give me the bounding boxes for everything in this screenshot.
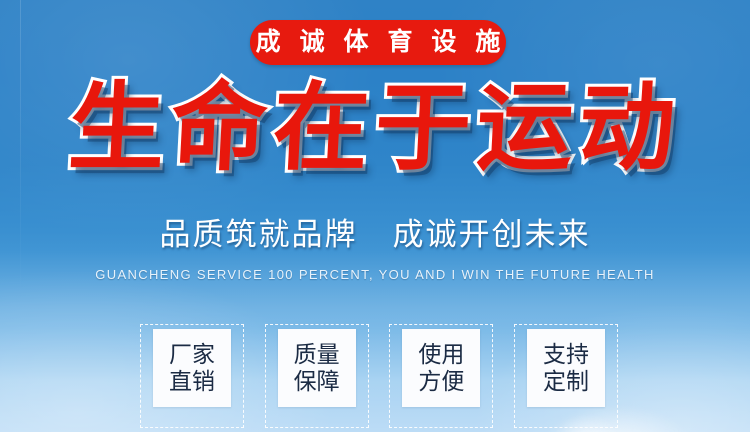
feature-card-1-line-2: 直销 bbox=[169, 368, 215, 395]
feature-card-4-line-1: 支持 bbox=[543, 341, 589, 368]
feature-list: 厂家 直销 质量 保障 使用 方便 支持 定制 bbox=[140, 324, 618, 428]
feature-card-3: 使用 方便 bbox=[402, 329, 480, 407]
promo-banner: 成 诚 体 育 设 施 生命在于运动 品质筑就品牌 成诚开创未来 GUANCHE… bbox=[0, 0, 750, 432]
feature-item-2: 质量 保障 bbox=[265, 324, 369, 428]
feature-card-4-line-2: 定制 bbox=[543, 368, 589, 395]
subtitle-left-text: 品质筑就品牌 bbox=[160, 218, 358, 252]
feature-item-3: 使用 方便 bbox=[389, 324, 493, 428]
feature-item-4: 支持 定制 bbox=[514, 324, 618, 428]
subtitle-right-text: 成诚开创未来 bbox=[392, 218, 590, 252]
feature-card-4: 支持 定制 bbox=[527, 329, 605, 407]
headline: 生命在于运动 bbox=[0, 78, 750, 179]
feature-item-1: 厂家 直销 bbox=[140, 324, 244, 428]
feature-card-1: 厂家 直销 bbox=[153, 329, 231, 407]
english-tagline: GUANCHENG SERVICE 100 PERCENT, YOU AND I… bbox=[0, 266, 750, 284]
feature-card-2-line-2: 保障 bbox=[294, 368, 340, 395]
feature-card-2-line-1: 质量 bbox=[294, 341, 340, 368]
brand-badge-label: 成 诚 体 育 设 施 bbox=[250, 30, 507, 55]
feature-card-2: 质量 保障 bbox=[278, 329, 356, 407]
feature-card-3-line-2: 方便 bbox=[418, 368, 464, 395]
brand-badge: 成 诚 体 育 设 施 bbox=[250, 20, 506, 65]
english-tagline-text: GUANCHENG SERVICE 100 PERCENT, YOU AND I… bbox=[95, 267, 655, 283]
headline-text: 生命在于运动 bbox=[66, 78, 683, 179]
feature-card-1-line-1: 厂家 bbox=[169, 341, 215, 368]
feature-card-3-line-1: 使用 bbox=[418, 341, 464, 368]
subtitle: 品质筑就品牌 成诚开创未来 bbox=[0, 218, 750, 252]
